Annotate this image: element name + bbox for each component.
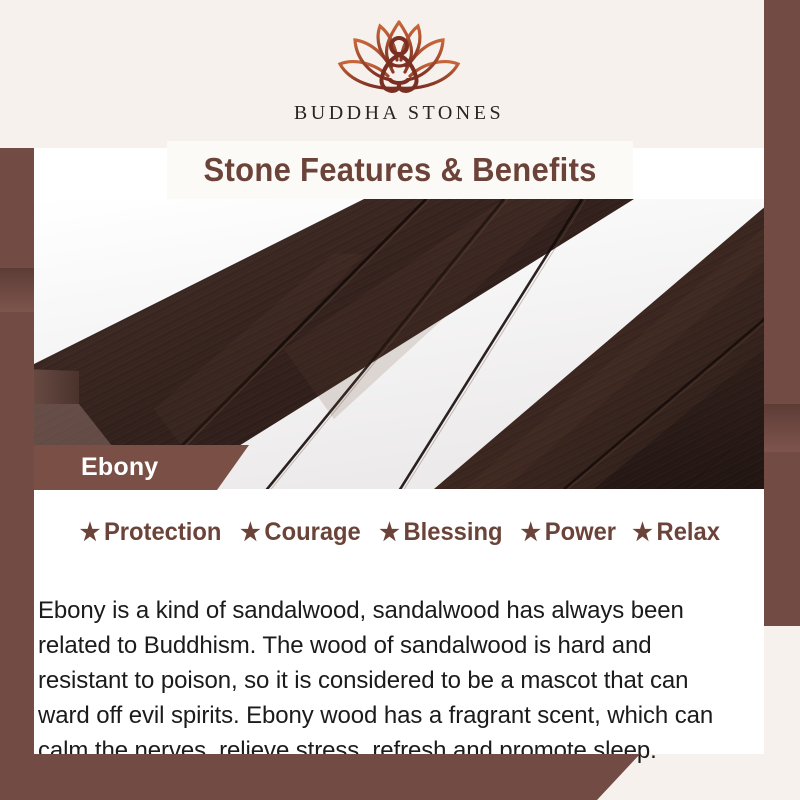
star-icon: ★ [520, 521, 540, 545]
benefit-item: ★ Power [515, 518, 620, 547]
description-text: Ebony is a kind of sandalwood, sandalwoo… [38, 593, 742, 768]
frame-right-bar [764, 0, 800, 626]
infographic-root: BUDDHA STONES Stone Features & Benefits [0, 0, 800, 800]
star-icon: ★ [79, 521, 99, 545]
brand-header: BUDDHA STONES [34, 0, 764, 148]
benefit-item: ★ Protection [75, 518, 226, 547]
benefit-item: ★ Courage [235, 518, 365, 547]
benefit-item: ★ Relax [628, 518, 725, 547]
star-icon: ★ [240, 521, 260, 545]
benefit-item: ★ Blessing [374, 518, 507, 547]
frame-right-fold [764, 404, 800, 452]
benefit-label: Protection [104, 518, 221, 547]
benefit-label: Courage [264, 518, 360, 547]
lotus-meditation-icon [314, 14, 484, 100]
title-banner: Stone Features & Benefits [167, 141, 633, 199]
star-icon: ★ [632, 521, 652, 545]
product-label: Ebony [81, 453, 158, 482]
benefits-row: ★ Protection ★ Courage ★ Blessing ★ Powe… [34, 518, 764, 547]
frame-left-bar [0, 148, 34, 800]
star-icon: ★ [379, 521, 399, 545]
frame-bottom-bar [0, 754, 640, 800]
brand-name: BUDDHA STONES [294, 102, 504, 125]
frame-left-fold [0, 268, 34, 312]
benefit-label: Power [544, 518, 615, 547]
page-title: Stone Features & Benefits [203, 151, 596, 189]
benefit-label: Relax [657, 518, 720, 547]
product-label-banner: Ebony [34, 445, 249, 490]
benefit-label: Blessing [403, 518, 502, 547]
